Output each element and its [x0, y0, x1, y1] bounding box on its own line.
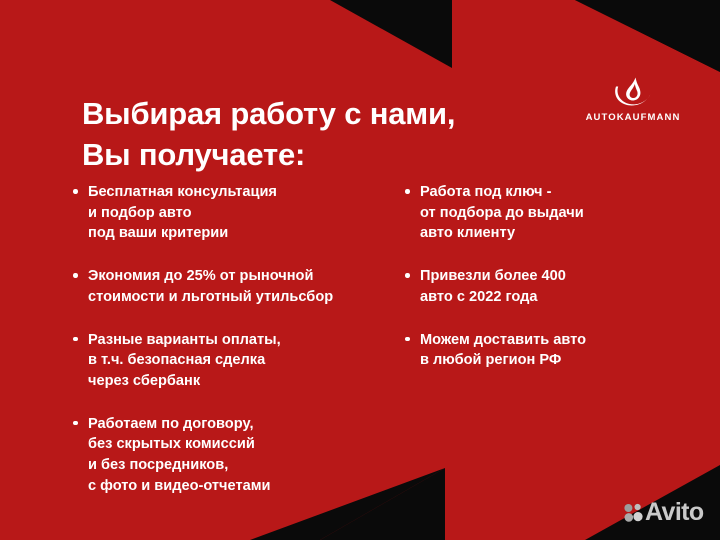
benefit-line: авто с 2022 года	[420, 287, 704, 308]
flame-swoosh-icon	[613, 76, 653, 109]
benefit-text: Работаем по договору, без скрытых комисс…	[88, 414, 402, 497]
poster-content: Выбирая работу с нами, Вы получаете: AUT…	[0, 0, 720, 540]
avito-dots-icon	[624, 503, 643, 522]
benefit-item: Бесплатная консультация и подбор авто по…	[72, 182, 402, 244]
benefit-item: Разные варианты оплаты, в т.ч. безопасна…	[72, 330, 402, 392]
page-title: Выбирая работу с нами, Вы получаете:	[82, 93, 582, 175]
bullet-dot-icon	[73, 273, 78, 278]
benefits-left-column: Бесплатная консультация и подбор авто по…	[72, 182, 402, 497]
headline-line-2: Вы получаете:	[82, 134, 582, 175]
benefit-text: Можем доставить авто в любой регион РФ	[420, 330, 704, 371]
avito-watermark: Avito	[624, 500, 704, 525]
benefit-item: Привезли более 400 авто с 2022 года	[404, 266, 704, 307]
benefit-text: Разные варианты оплаты, в т.ч. безопасна…	[88, 330, 402, 392]
bullet-dot-icon	[73, 337, 78, 342]
benefit-line: без скрытых комиссий	[88, 434, 402, 455]
benefit-line: Бесплатная консультация	[88, 182, 402, 203]
bullet-dot-icon	[405, 273, 410, 278]
benefit-item: Работаем по договору, без скрытых комисс…	[72, 414, 402, 497]
benefit-line: под ваши критерии	[88, 223, 402, 244]
bullet-dot-icon	[73, 421, 78, 426]
bullet-dot-icon	[405, 189, 410, 194]
benefit-line: с фото и видео-отчетами	[88, 476, 402, 497]
benefit-line: стоимости и льготный утильсбор	[88, 287, 402, 308]
headline-line-1: Выбирая работу с нами,	[82, 93, 582, 134]
benefit-line: Привезли более 400	[420, 266, 704, 287]
benefit-text: Экономия до 25% от рыночной стоимости и …	[88, 266, 402, 307]
benefit-text: Бесплатная консультация и подбор авто по…	[88, 182, 402, 244]
brand-logo: AUTOKAUFMANN	[578, 76, 688, 123]
benefit-line: Можем доставить авто	[420, 330, 704, 351]
brand-wordmark: AUTOKAUFMANN	[578, 112, 688, 123]
benefit-item: Работа под ключ - от подбора до выдачи а…	[404, 182, 704, 244]
benefit-text: Привезли более 400 авто с 2022 года	[420, 266, 704, 307]
promo-poster: Выбирая работу с нами, Вы получаете: AUT…	[0, 0, 720, 540]
benefit-line: Работаем по договору,	[88, 414, 402, 435]
benefit-text: Работа под ключ - от подбора до выдачи а…	[420, 182, 704, 244]
benefit-line: Экономия до 25% от рыночной	[88, 266, 402, 287]
bullet-dot-icon	[405, 337, 410, 342]
benefit-line: и без посредников,	[88, 455, 402, 476]
benefit-line: Работа под ключ -	[420, 182, 704, 203]
benefit-line: от подбора до выдачи	[420, 203, 704, 224]
benefit-item: Экономия до 25% от рыночной стоимости и …	[72, 266, 402, 307]
benefit-line: в т.ч. безопасная сделка	[88, 350, 402, 371]
benefit-line: и подбор авто	[88, 203, 402, 224]
avito-wordmark: Avito	[645, 500, 704, 525]
benefit-line: Разные варианты оплаты,	[88, 330, 402, 351]
bullet-dot-icon	[73, 189, 78, 194]
benefit-line: в любой регион РФ	[420, 350, 704, 371]
benefit-line: авто клиенту	[420, 223, 704, 244]
benefit-line: через сбербанк	[88, 371, 402, 392]
benefits-right-column: Работа под ключ - от подбора до выдачи а…	[404, 182, 704, 371]
benefit-item: Можем доставить авто в любой регион РФ	[404, 330, 704, 371]
